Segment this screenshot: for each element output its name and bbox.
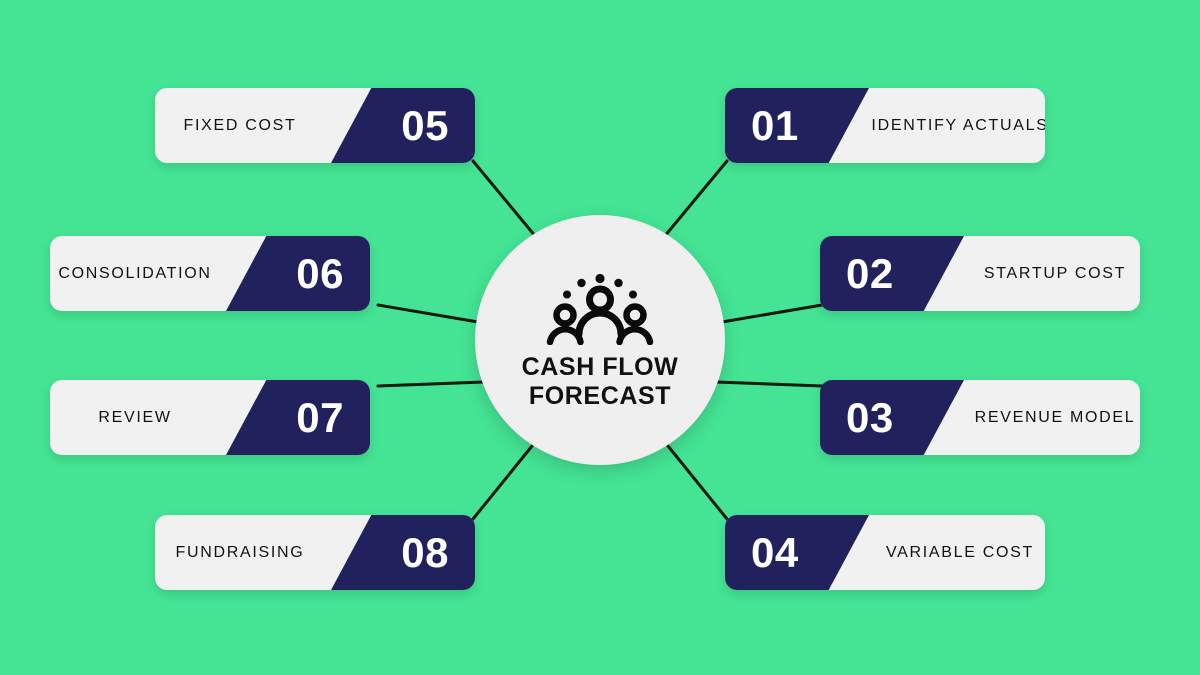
connector-line-03 bbox=[716, 382, 822, 386]
group-people-icon bbox=[546, 273, 654, 345]
step-card-05[interactable]: 05FIXED COST bbox=[155, 88, 475, 163]
connector-line-05 bbox=[473, 161, 536, 237]
step-number-01: 01 bbox=[751, 105, 799, 147]
step-number-block-04: 04 bbox=[725, 515, 869, 590]
step-label-04: VARIABLE COST bbox=[869, 515, 1045, 590]
connector-line-02 bbox=[722, 305, 822, 322]
step-number-block-07: 07 bbox=[226, 380, 370, 455]
step-label-08: FUNDRAISING bbox=[155, 515, 331, 590]
connector-line-07 bbox=[378, 382, 484, 386]
step-number-block-06: 06 bbox=[226, 236, 370, 311]
step-number-block-08: 08 bbox=[331, 515, 475, 590]
connector-line-04 bbox=[668, 446, 727, 519]
step-card-03[interactable]: 03REVENUE MODEL bbox=[820, 380, 1140, 455]
center-hub: CASH FLOW FORECAST bbox=[475, 215, 725, 465]
step-number-block-01: 01 bbox=[725, 88, 869, 163]
step-number-05: 05 bbox=[401, 105, 449, 147]
step-number-block-05: 05 bbox=[331, 88, 475, 163]
step-card-02[interactable]: 02STARTUP COST bbox=[820, 236, 1140, 311]
step-number-block-03: 03 bbox=[820, 380, 964, 455]
step-card-07[interactable]: 07REVIEW bbox=[50, 380, 370, 455]
step-number-08: 08 bbox=[401, 532, 449, 574]
infographic-canvas: CASH FLOW FORECAST 01IDENTIFY ACTUALS02S… bbox=[0, 0, 1200, 675]
hub-title-line-1: CASH FLOW bbox=[522, 353, 679, 383]
connector-line-01 bbox=[664, 161, 727, 237]
step-card-08[interactable]: 08FUNDRAISING bbox=[155, 515, 475, 590]
step-label-02: STARTUP COST bbox=[964, 236, 1140, 311]
step-number-block-02: 02 bbox=[820, 236, 964, 311]
step-label-01: IDENTIFY ACTUALS bbox=[869, 88, 1045, 163]
step-label-05: FIXED COST bbox=[155, 88, 331, 163]
step-card-04[interactable]: 04VARIABLE COST bbox=[725, 515, 1045, 590]
step-number-04: 04 bbox=[751, 532, 799, 574]
step-number-07: 07 bbox=[296, 397, 344, 439]
step-label-07: REVIEW bbox=[50, 380, 226, 455]
step-label-03: REVENUE MODEL bbox=[964, 380, 1140, 455]
step-label-06: CONSOLIDATION bbox=[50, 236, 226, 311]
hub-title-line-2: FORECAST bbox=[529, 382, 671, 412]
connector-line-08 bbox=[473, 446, 532, 519]
step-card-06[interactable]: 06CONSOLIDATION bbox=[50, 236, 370, 311]
connector-line-06 bbox=[378, 305, 478, 322]
step-number-06: 06 bbox=[296, 253, 344, 295]
step-card-01[interactable]: 01IDENTIFY ACTUALS bbox=[725, 88, 1045, 163]
step-number-03: 03 bbox=[846, 397, 894, 439]
step-number-02: 02 bbox=[846, 253, 894, 295]
